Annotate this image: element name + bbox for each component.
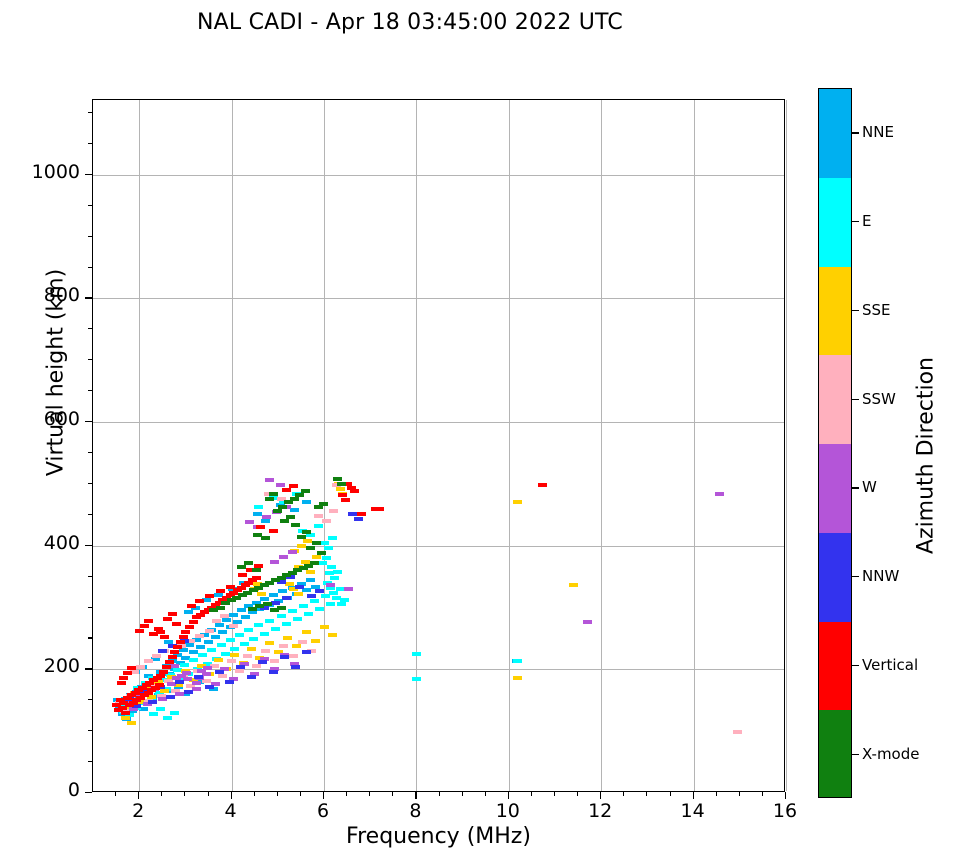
data-point	[166, 695, 175, 699]
y-axis-tick	[85, 792, 92, 793]
data-point	[320, 625, 329, 629]
data-point	[227, 659, 236, 663]
data-point	[298, 640, 307, 644]
data-point	[336, 487, 345, 491]
data-point	[179, 635, 188, 639]
data-point	[204, 640, 213, 644]
y-axis-tick	[85, 174, 92, 175]
y-axis-minor-tick	[88, 637, 92, 638]
data-point	[329, 591, 338, 595]
data-point	[333, 570, 342, 574]
data-point	[311, 639, 320, 643]
data-point	[330, 576, 339, 580]
data-point	[271, 601, 280, 605]
plot-area	[92, 99, 785, 792]
data-point	[290, 508, 299, 512]
y-axis-minor-tick	[88, 514, 92, 515]
data-point	[216, 589, 225, 593]
data-point	[252, 664, 261, 668]
data-point	[195, 634, 204, 638]
x-axis-tick	[138, 792, 139, 799]
data-point	[252, 576, 261, 580]
data-point	[271, 627, 280, 631]
data-point	[256, 525, 265, 529]
data-point	[162, 665, 171, 669]
data-point	[237, 608, 246, 612]
data-point	[311, 585, 320, 589]
data-point	[270, 560, 279, 564]
data-point	[160, 635, 169, 639]
data-point	[172, 622, 181, 626]
data-point	[163, 617, 172, 621]
data-point	[297, 535, 306, 539]
gridline-vertical	[786, 100, 787, 791]
data-point	[320, 541, 329, 545]
data-point	[299, 604, 308, 608]
data-point	[513, 659, 522, 663]
data-point	[328, 536, 337, 540]
data-point	[156, 674, 165, 678]
x-tick-label: 10	[478, 800, 538, 822]
data-point	[301, 489, 310, 493]
data-point	[302, 630, 311, 634]
data-point	[254, 564, 263, 568]
y-axis-minor-tick	[88, 730, 92, 731]
colorbar-title: Azimuth Direction	[914, 176, 939, 736]
data-point	[135, 629, 144, 633]
data-point	[292, 644, 301, 648]
data-point	[306, 546, 315, 550]
x-axis-tick	[231, 792, 232, 799]
data-point	[319, 502, 328, 506]
data-point	[412, 652, 421, 656]
data-point	[226, 638, 235, 642]
data-point	[155, 683, 164, 687]
y-axis-minor-tick	[88, 359, 92, 360]
data-point	[333, 477, 342, 481]
data-point	[329, 509, 338, 513]
data-point	[248, 610, 257, 614]
colorbar-label-x-mode: X-mode	[862, 745, 919, 763]
data-point	[257, 592, 266, 596]
data-point	[127, 666, 136, 670]
data-point	[170, 664, 179, 668]
data-point	[288, 550, 297, 554]
data-point	[183, 677, 192, 681]
data-point	[282, 596, 291, 600]
data-layer	[93, 100, 784, 791]
x-tick-label: 6	[293, 800, 353, 822]
data-point	[513, 500, 522, 504]
data-point	[270, 659, 279, 663]
data-point	[569, 583, 578, 587]
data-point	[197, 669, 206, 673]
data-point	[262, 515, 271, 519]
colorbar-tick	[852, 310, 859, 311]
data-point	[184, 610, 193, 614]
chart-title: NAL CADI - Apr 18 03:45:00 2022 UTC	[0, 10, 820, 35]
data-point	[328, 633, 337, 637]
data-point	[314, 514, 323, 518]
data-point	[280, 655, 289, 659]
data-point	[221, 652, 230, 656]
colorbar-tick	[852, 221, 859, 222]
data-point	[173, 645, 182, 649]
x-axis-minor-tick	[439, 792, 440, 796]
colorbar-tick	[852, 576, 859, 577]
y-axis-minor-tick	[88, 205, 92, 206]
data-point	[375, 507, 384, 511]
data-point	[304, 612, 313, 616]
data-point	[412, 677, 421, 681]
x-axis-minor-tick	[554, 792, 555, 796]
data-point	[322, 519, 331, 523]
data-point	[235, 633, 244, 637]
x-axis-tick	[415, 792, 416, 799]
y-axis-minor-tick	[88, 328, 92, 329]
data-point	[189, 620, 198, 624]
colorbar-segment-vertical[interactable]	[819, 622, 851, 711]
data-point	[237, 565, 246, 569]
data-point	[307, 594, 316, 598]
data-point	[175, 680, 184, 684]
data-point	[258, 660, 267, 664]
data-point	[324, 546, 333, 550]
data-point	[170, 711, 179, 715]
data-point	[350, 489, 359, 493]
y-axis-tick	[85, 668, 92, 669]
data-point	[185, 643, 194, 647]
data-point	[240, 642, 249, 646]
data-point	[187, 604, 196, 608]
data-point	[163, 716, 172, 720]
x-axis-minor-tick	[161, 792, 162, 796]
data-point	[291, 523, 300, 527]
data-point	[278, 589, 287, 593]
y-axis-minor-tick	[88, 607, 92, 608]
colorbar-segment-e[interactable]	[819, 178, 851, 267]
data-point	[185, 625, 194, 629]
y-axis-minor-tick	[88, 483, 92, 484]
data-point	[291, 665, 300, 669]
colorbar-segment-w[interactable]	[819, 444, 851, 533]
data-point	[184, 690, 193, 694]
colorbar-segment-ssw[interactable]	[819, 355, 851, 444]
data-point	[317, 551, 326, 555]
data-point	[302, 650, 311, 654]
data-point	[119, 676, 128, 680]
data-point	[158, 649, 167, 653]
colorbar-label-vertical: Vertical	[862, 656, 918, 674]
data-point	[168, 655, 177, 659]
data-point	[261, 519, 270, 523]
data-point	[289, 484, 298, 488]
data-point	[230, 653, 239, 657]
data-point	[247, 647, 256, 651]
data-point	[280, 519, 289, 523]
data-point	[337, 482, 346, 486]
colorbar-tick	[852, 754, 859, 755]
data-point	[195, 599, 204, 603]
x-axis-minor-tick	[531, 792, 532, 796]
data-point	[290, 497, 299, 501]
x-axis-minor-tick	[208, 792, 209, 796]
colorbar-segment-x-mode[interactable]	[819, 710, 851, 798]
data-point	[215, 670, 224, 674]
data-point	[241, 615, 250, 619]
x-tick-label: 14	[663, 800, 723, 822]
data-point	[269, 492, 278, 496]
data-point	[156, 630, 165, 634]
data-point	[180, 663, 189, 667]
y-axis-minor-tick	[88, 576, 92, 577]
x-axis-minor-tick	[462, 792, 463, 796]
data-point	[295, 493, 304, 497]
data-point	[314, 505, 323, 509]
x-axis-minor-tick	[184, 792, 185, 796]
data-point	[261, 536, 270, 540]
data-point	[207, 648, 216, 652]
data-point	[244, 628, 253, 632]
data-point	[302, 500, 311, 504]
data-point	[156, 707, 165, 711]
data-point	[260, 597, 269, 601]
data-point	[148, 700, 157, 704]
data-point	[354, 517, 363, 521]
data-point	[177, 674, 186, 678]
data-point	[278, 505, 287, 509]
data-point	[254, 505, 263, 509]
data-point	[322, 556, 331, 560]
data-point	[314, 524, 323, 528]
x-axis-minor-tick	[762, 792, 763, 796]
data-point	[253, 512, 262, 516]
data-point	[269, 593, 278, 597]
x-axis-tick	[600, 792, 601, 799]
colorbar-segment-nne[interactable]	[819, 89, 851, 178]
y-axis-tick	[85, 545, 92, 546]
data-point	[212, 619, 221, 623]
data-point	[123, 671, 132, 675]
data-point	[348, 512, 357, 516]
data-point	[263, 602, 272, 606]
data-point	[733, 730, 742, 734]
data-point	[196, 645, 205, 649]
data-point	[286, 515, 295, 519]
data-point	[277, 606, 286, 610]
data-point	[226, 585, 235, 589]
data-point	[189, 658, 198, 662]
data-point	[144, 619, 153, 623]
colorbar-label-sse: SSE	[862, 301, 891, 319]
y-axis-tick	[85, 297, 92, 298]
data-point	[277, 614, 286, 618]
data-point	[295, 585, 304, 589]
y-axis-minor-tick	[88, 452, 92, 453]
data-point	[140, 624, 149, 628]
data-point	[205, 685, 214, 689]
data-point	[149, 712, 158, 716]
data-point	[245, 520, 254, 524]
ionogram-figure: NAL CADI - Apr 18 03:45:00 2022 UTC 0200…	[0, 0, 958, 857]
data-point	[222, 618, 231, 622]
data-point	[269, 529, 278, 533]
data-point	[220, 614, 229, 618]
data-point	[225, 680, 234, 684]
data-point	[247, 675, 256, 679]
data-point	[229, 613, 238, 617]
colorbar[interactable]	[818, 88, 852, 798]
data-point	[168, 612, 177, 616]
data-point	[236, 665, 245, 669]
data-point	[205, 594, 214, 598]
x-axis-minor-tick	[646, 792, 647, 796]
data-point	[121, 716, 130, 720]
x-axis-minor-tick	[623, 792, 624, 796]
data-point	[297, 544, 306, 548]
data-point	[152, 654, 161, 658]
data-point	[165, 660, 174, 664]
data-point	[344, 587, 353, 591]
data-point	[279, 644, 288, 648]
x-axis-minor-tick	[115, 792, 116, 796]
data-point	[715, 492, 724, 496]
y-axis-minor-tick	[88, 267, 92, 268]
data-point	[340, 598, 349, 602]
data-point	[306, 578, 315, 582]
data-point	[189, 650, 198, 654]
data-point	[218, 630, 227, 634]
data-point	[337, 602, 346, 606]
data-point	[170, 650, 179, 654]
data-point	[265, 641, 274, 645]
data-point	[230, 647, 239, 651]
data-point	[310, 599, 319, 603]
data-point	[513, 676, 522, 680]
y-axis-minor-tick	[88, 143, 92, 144]
x-axis-minor-tick	[254, 792, 255, 796]
data-point	[229, 624, 238, 628]
data-point	[327, 565, 336, 569]
data-point	[218, 674, 227, 678]
colorbar-tick	[852, 665, 859, 666]
data-point	[338, 493, 347, 497]
data-point	[279, 555, 288, 559]
data-point	[159, 670, 168, 674]
colorbar-label-e: E	[862, 212, 871, 230]
data-point	[283, 636, 292, 640]
x-axis-minor-tick	[277, 792, 278, 796]
data-point	[254, 623, 263, 627]
x-axis-minor-tick	[485, 792, 486, 796]
data-point	[117, 681, 126, 685]
data-point	[144, 659, 153, 663]
data-point	[127, 721, 136, 725]
colorbar-segment-sse[interactable]	[819, 267, 851, 356]
x-axis-minor-tick	[577, 792, 578, 796]
y-tick-label: 0	[10, 779, 80, 801]
y-axis-minor-tick	[88, 699, 92, 700]
data-point	[265, 619, 274, 623]
data-point	[318, 561, 327, 565]
y-axis-title: Virtual height (km)	[44, 23, 69, 723]
data-point	[315, 607, 324, 611]
colorbar-segment-nnw[interactable]	[819, 533, 851, 622]
data-point	[238, 573, 247, 577]
data-point	[198, 653, 207, 657]
x-tick-label: 12	[570, 800, 630, 822]
x-axis-minor-tick	[369, 792, 370, 796]
data-point	[326, 583, 335, 587]
data-point	[215, 623, 224, 627]
data-point	[176, 640, 185, 644]
colorbar-label-nnw: NNW	[862, 567, 899, 585]
data-point	[306, 570, 315, 574]
y-axis-minor-tick	[88, 761, 92, 762]
x-axis-tick	[785, 792, 786, 799]
data-point	[326, 602, 335, 606]
data-point	[315, 589, 324, 593]
x-tick-label: 4	[201, 800, 261, 822]
data-point	[249, 637, 258, 641]
data-point	[181, 630, 190, 634]
colorbar-tick	[852, 399, 859, 400]
data-point	[160, 689, 169, 693]
data-point	[269, 670, 278, 674]
data-point	[243, 654, 252, 658]
x-axis-tick	[323, 792, 324, 799]
data-point	[289, 654, 298, 658]
data-point	[265, 497, 274, 501]
x-axis-minor-tick	[392, 792, 393, 796]
x-axis-minor-tick	[670, 792, 671, 796]
colorbar-label-w: W	[862, 478, 877, 496]
data-point	[211, 635, 220, 639]
data-point	[214, 658, 223, 662]
data-point	[357, 512, 366, 516]
colorbar-label-nne: NNE	[862, 123, 894, 141]
data-point	[194, 675, 203, 679]
colorbar-tick	[852, 132, 859, 133]
y-axis-minor-tick	[88, 390, 92, 391]
data-point	[265, 478, 274, 482]
data-point	[538, 483, 547, 487]
y-axis-minor-tick	[88, 112, 92, 113]
data-point	[260, 632, 269, 636]
data-point	[341, 498, 350, 502]
x-tick-label: 2	[108, 800, 168, 822]
data-point	[310, 561, 319, 565]
data-point	[312, 541, 321, 545]
data-point	[293, 617, 302, 621]
data-point	[252, 568, 261, 572]
data-point	[205, 629, 214, 633]
x-axis-minor-tick	[346, 792, 347, 796]
data-point	[261, 649, 270, 653]
data-point	[288, 609, 297, 613]
x-axis-minor-tick	[300, 792, 301, 796]
data-point	[175, 692, 184, 696]
data-point	[282, 622, 291, 626]
x-axis-minor-tick	[739, 792, 740, 796]
x-axis-tick	[693, 792, 694, 799]
data-point	[121, 711, 130, 715]
data-point	[282, 488, 291, 492]
x-axis-minor-tick	[716, 792, 717, 796]
data-point	[302, 530, 311, 534]
data-point	[235, 669, 244, 673]
data-point	[583, 620, 592, 624]
